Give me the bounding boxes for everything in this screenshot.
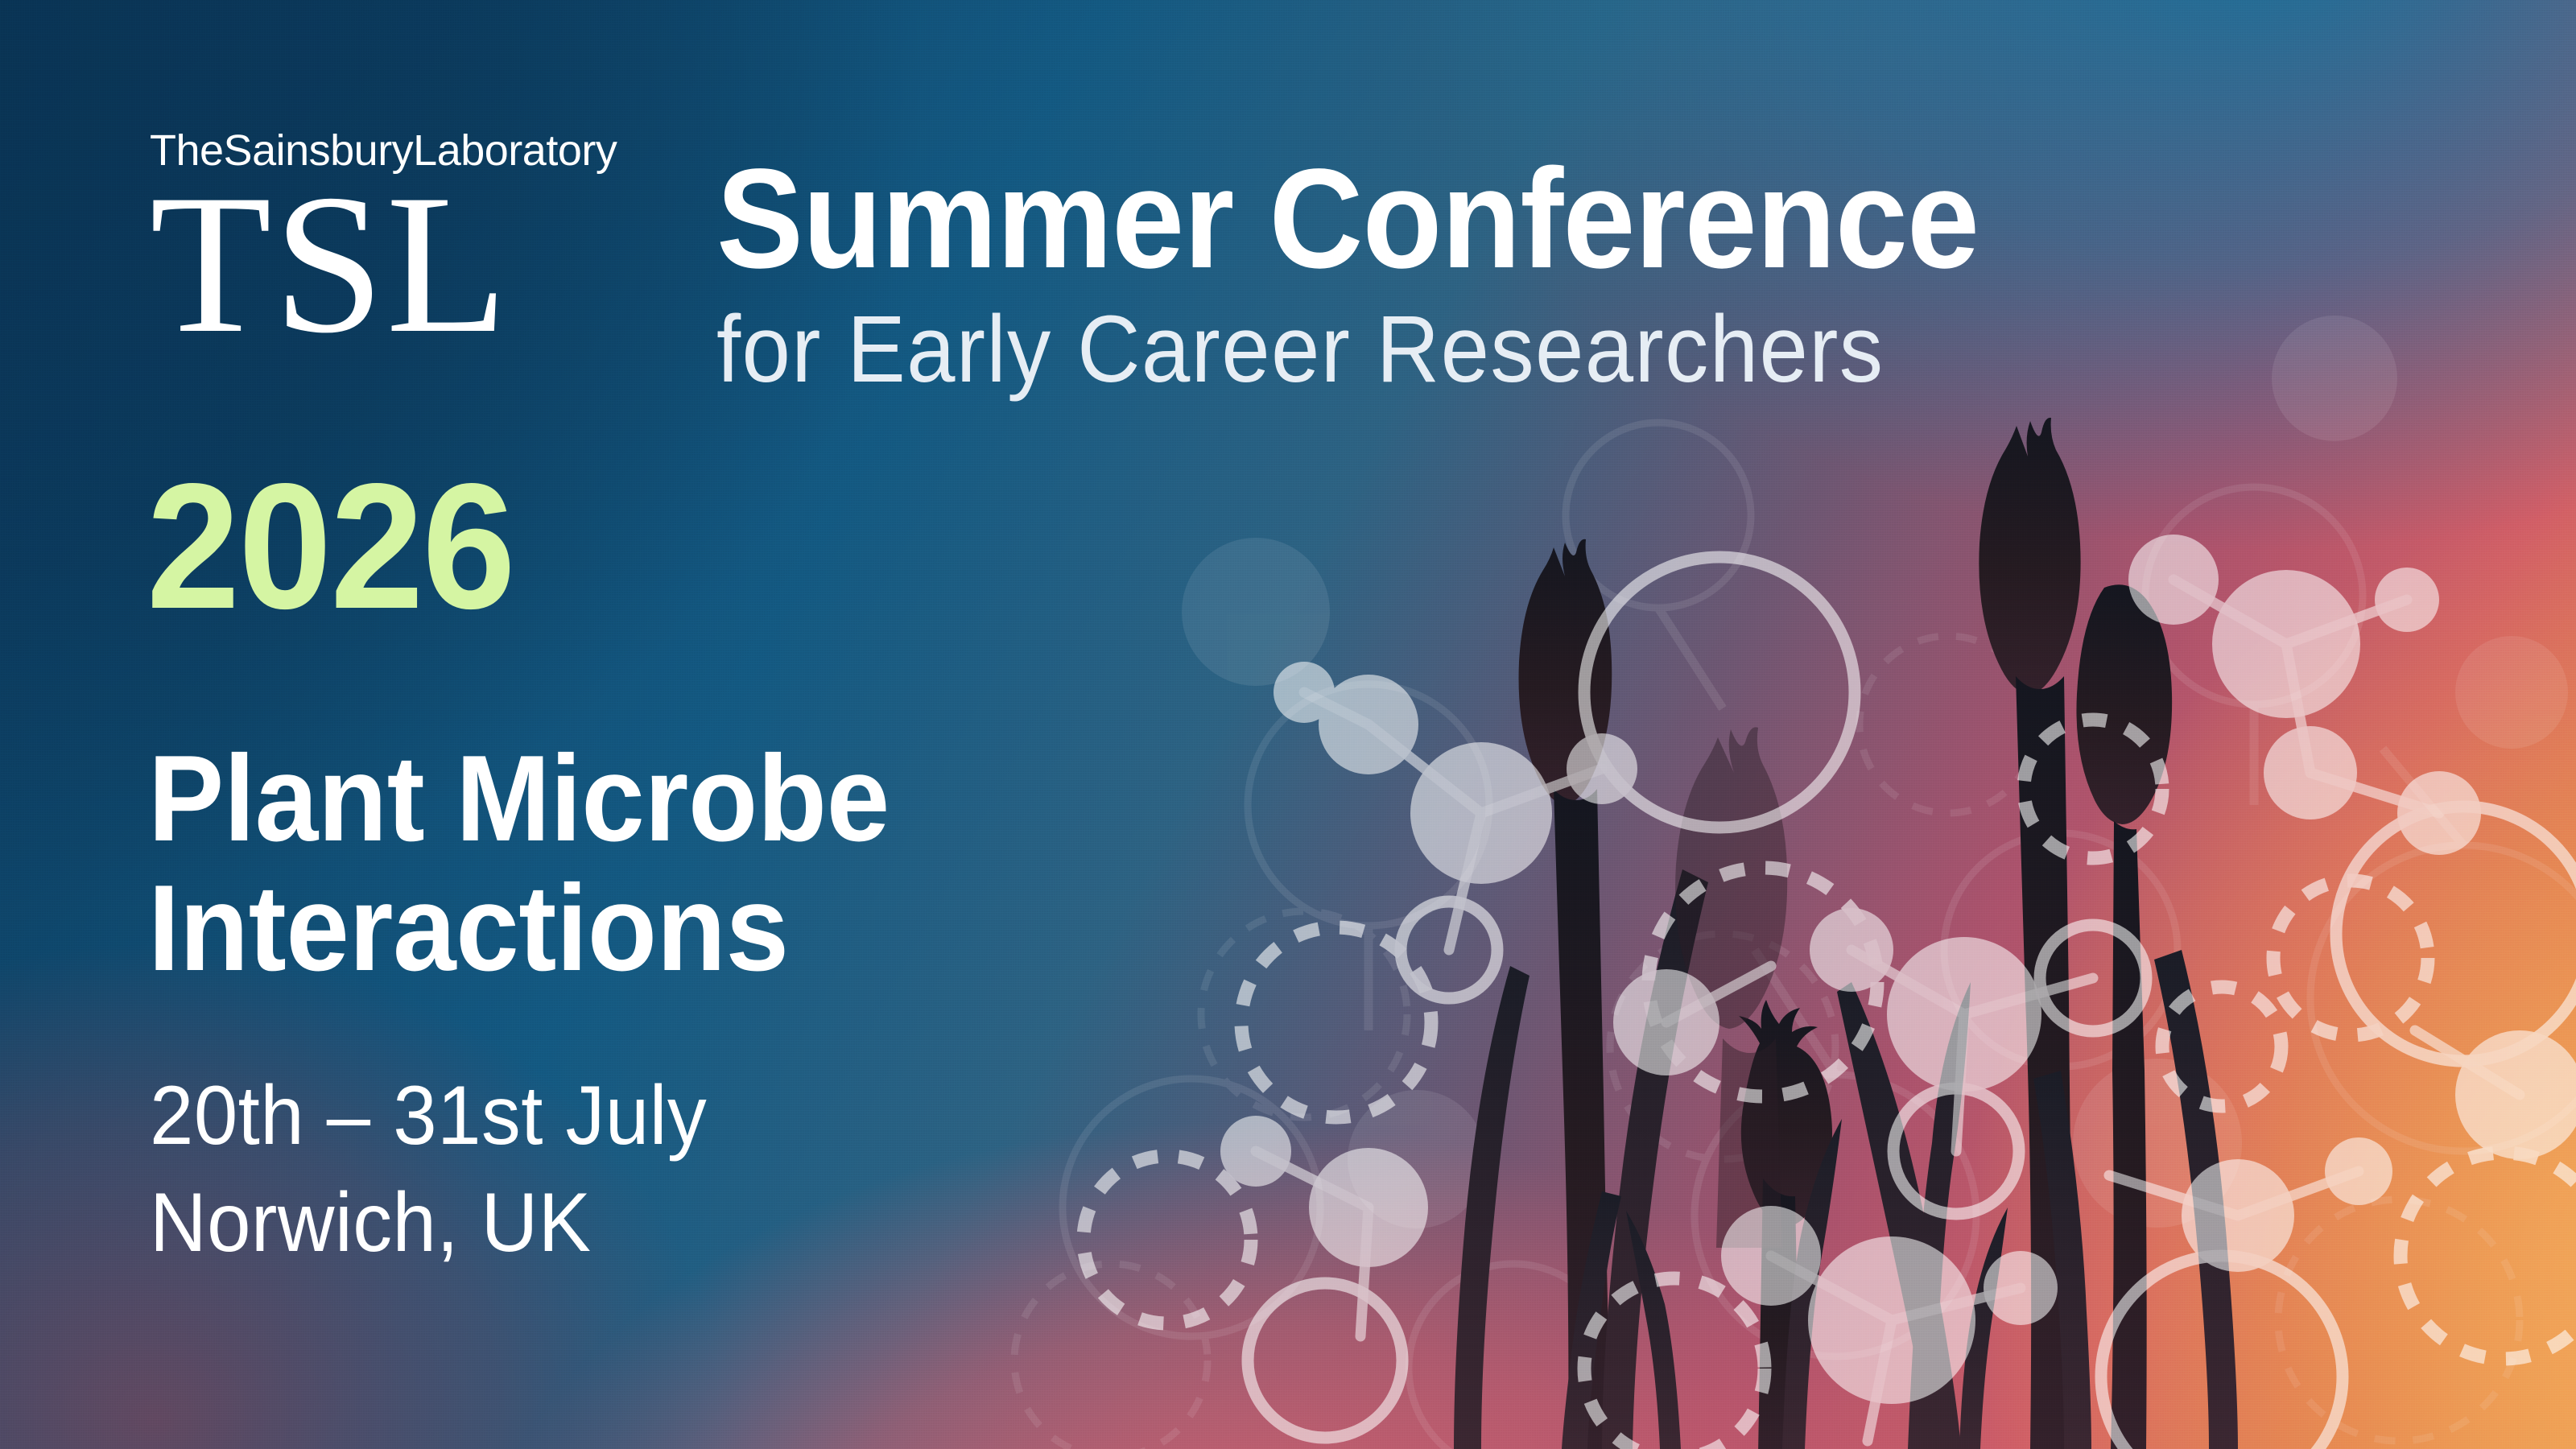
conference-year: 2026 [147, 457, 514, 636]
conference-dates: 20th – 31st July [150, 1063, 707, 1170]
conference-theme: Plant Microbe Interactions [148, 734, 890, 993]
banner-content: TheSainsburyLaboratory TSL Summer Confer… [0, 0, 2576, 1449]
conference-theme-line-2: Interactions [148, 864, 890, 993]
conference-title-block: Summer Conference for Early Career Resea… [716, 150, 2407, 403]
tsl-logo: TheSainsburyLaboratory TSL [150, 129, 649, 348]
page-title: Summer Conference [716, 150, 2272, 288]
conference-location: Norwich, UK [150, 1170, 707, 1277]
conference-banner: TheSainsburyLaboratory TSL Summer Confer… [0, 0, 2576, 1449]
conference-details: 20th – 31st July Norwich, UK [150, 1063, 707, 1277]
logo-initials: TSL [150, 180, 649, 348]
page-subtitle: for Early Career Researchers [716, 296, 2272, 402]
conference-theme-line-1: Plant Microbe [148, 734, 890, 864]
